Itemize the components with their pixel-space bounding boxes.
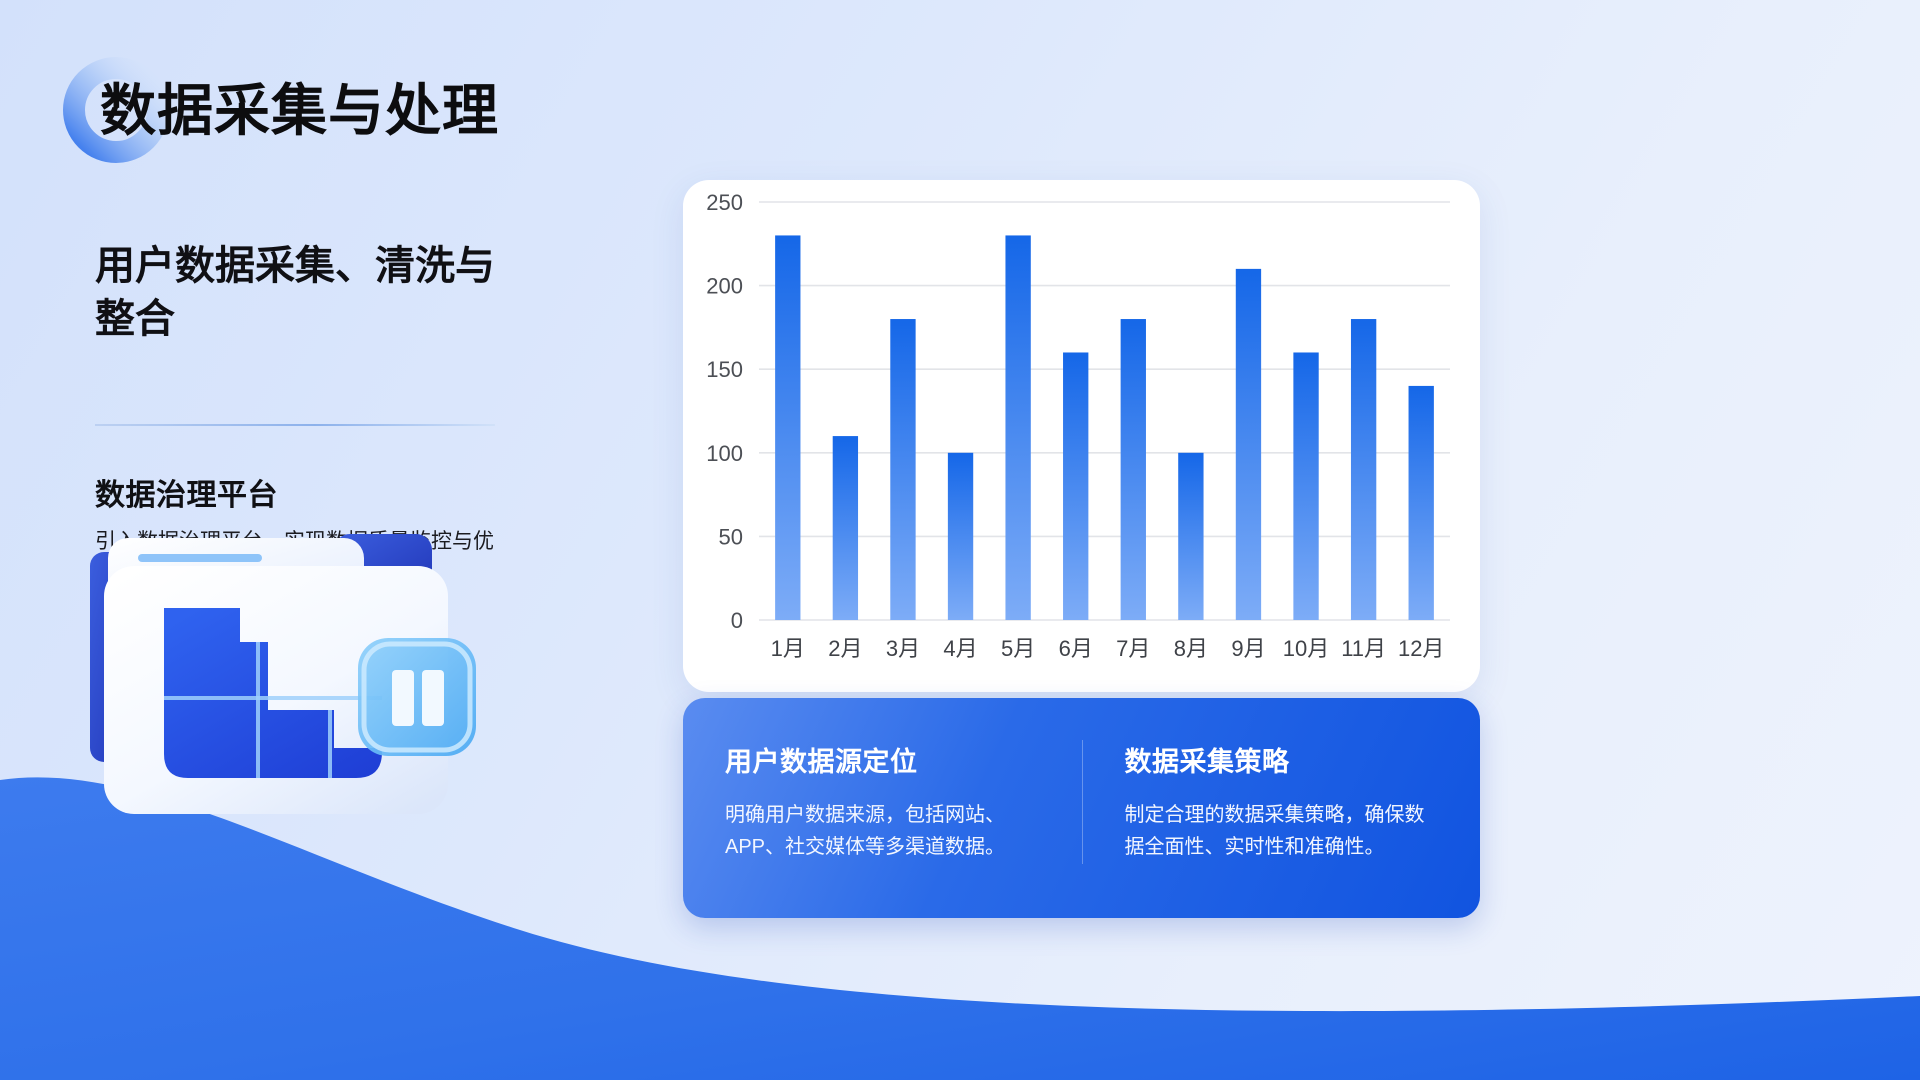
x-tick-label: 12月 — [1398, 636, 1444, 661]
chart-card: 050100150200250 1月2月3月4月5月6月7月8月9月10月11月… — [683, 180, 1480, 692]
y-tick-label: 150 — [706, 357, 743, 382]
y-tick-label: 200 — [706, 274, 743, 299]
page-title: 数据采集与处理 — [100, 66, 499, 147]
x-tick-label: 1月 — [771, 636, 805, 661]
x-tick-label: 11月 — [1341, 636, 1386, 661]
y-tick-label: 100 — [706, 441, 743, 466]
bar — [1351, 319, 1376, 620]
x-tick-label: 6月 — [1059, 636, 1093, 661]
info-card: 用户数据源定位 明确用户数据来源，包括网站、APP、社交媒体等多渠道数据。 数据… — [683, 698, 1480, 918]
x-tick-label: 10月 — [1283, 636, 1329, 661]
bar — [1005, 235, 1030, 620]
x-tick-label: 2月 — [828, 636, 862, 661]
horizontal-divider — [95, 424, 495, 426]
y-tick-label: 0 — [731, 608, 743, 633]
y-tick-label: 50 — [719, 524, 743, 549]
bar — [890, 319, 915, 620]
bar — [948, 453, 973, 620]
slide-subtitle: 用户数据采集、清洗与整合 — [95, 240, 525, 346]
x-tick-label: 4月 — [943, 636, 977, 661]
title-row: 数据采集与处理 — [62, 48, 622, 178]
info-body-2: 制定合理的数据采集策略，确保数据全面性、实时性和准确性。 — [1125, 799, 1439, 864]
info-title-1: 用户数据源定位 — [725, 740, 1040, 779]
bar — [775, 235, 800, 620]
info-title-2: 数据采集策略 — [1125, 740, 1439, 779]
chart-x-axis-labels: 1月2月3月4月5月6月7月8月9月10月11月12月 — [771, 636, 1445, 661]
chart-y-axis-labels: 050100150200250 — [706, 190, 743, 633]
y-tick-label: 250 — [706, 190, 743, 215]
x-tick-label: 9月 — [1231, 636, 1265, 661]
x-tick-label: 5月 — [1001, 636, 1035, 661]
bar — [1178, 453, 1203, 620]
bar — [1409, 386, 1434, 620]
bar — [1063, 352, 1088, 620]
bar — [1121, 319, 1146, 620]
x-tick-label: 8月 — [1174, 636, 1208, 661]
bar — [1236, 269, 1261, 620]
bar — [1293, 352, 1318, 620]
section-heading: 数据治理平台 — [95, 470, 515, 514]
info-column-1: 用户数据源定位 明确用户数据来源，包括网站、APP、社交媒体等多渠道数据。 — [683, 740, 1082, 864]
monthly-bar-chart[interactable]: 050100150200250 1月2月3月4月5月6月7月8月9月10月11月… — [683, 180, 1480, 692]
x-tick-label: 7月 — [1116, 636, 1150, 661]
info-body-1: 明确用户数据来源，包括网站、APP、社交媒体等多渠道数据。 — [725, 799, 1040, 864]
chart-gridlines — [759, 202, 1450, 620]
bar — [833, 436, 858, 620]
folder-3d-illustration-icon — [72, 520, 502, 840]
info-column-2: 数据采集策略 制定合理的数据采集策略，确保数据全面性、实时性和准确性。 — [1082, 740, 1481, 864]
chart-bars — [775, 235, 1434, 620]
x-tick-label: 3月 — [886, 636, 920, 661]
